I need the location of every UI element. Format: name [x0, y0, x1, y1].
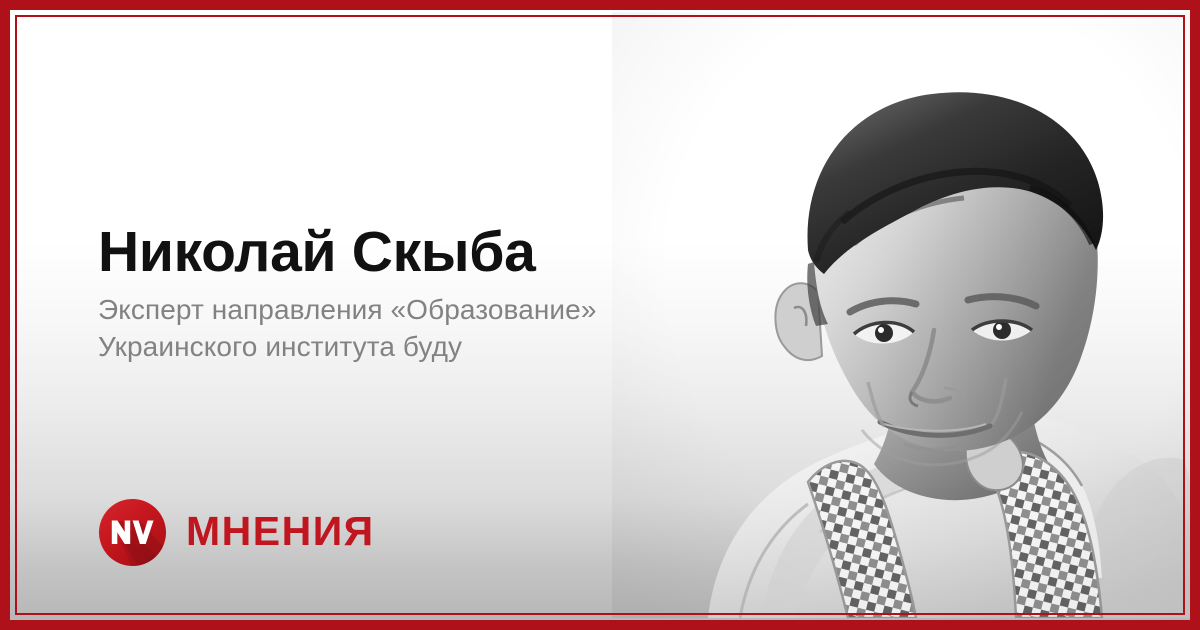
person-role: Эксперт направления «Образование» Украин… — [98, 291, 798, 365]
nv-logo-icon[interactable] — [99, 499, 166, 566]
brand-lockup[interactable]: МНЕНИЯ — [99, 499, 375, 566]
page-title: Николай Скыба — [98, 222, 798, 282]
brand-section-label[interactable]: МНЕНИЯ — [186, 511, 375, 554]
person-info: Николай Скыба Эксперт направления «Образ… — [98, 222, 798, 365]
person-role-line-2: Украинского института буду — [98, 328, 798, 365]
opinion-share-card: Николай Скыба Эксперт направления «Образ… — [0, 0, 1200, 630]
person-role-line-1: Эксперт направления «Образование» — [98, 291, 798, 328]
